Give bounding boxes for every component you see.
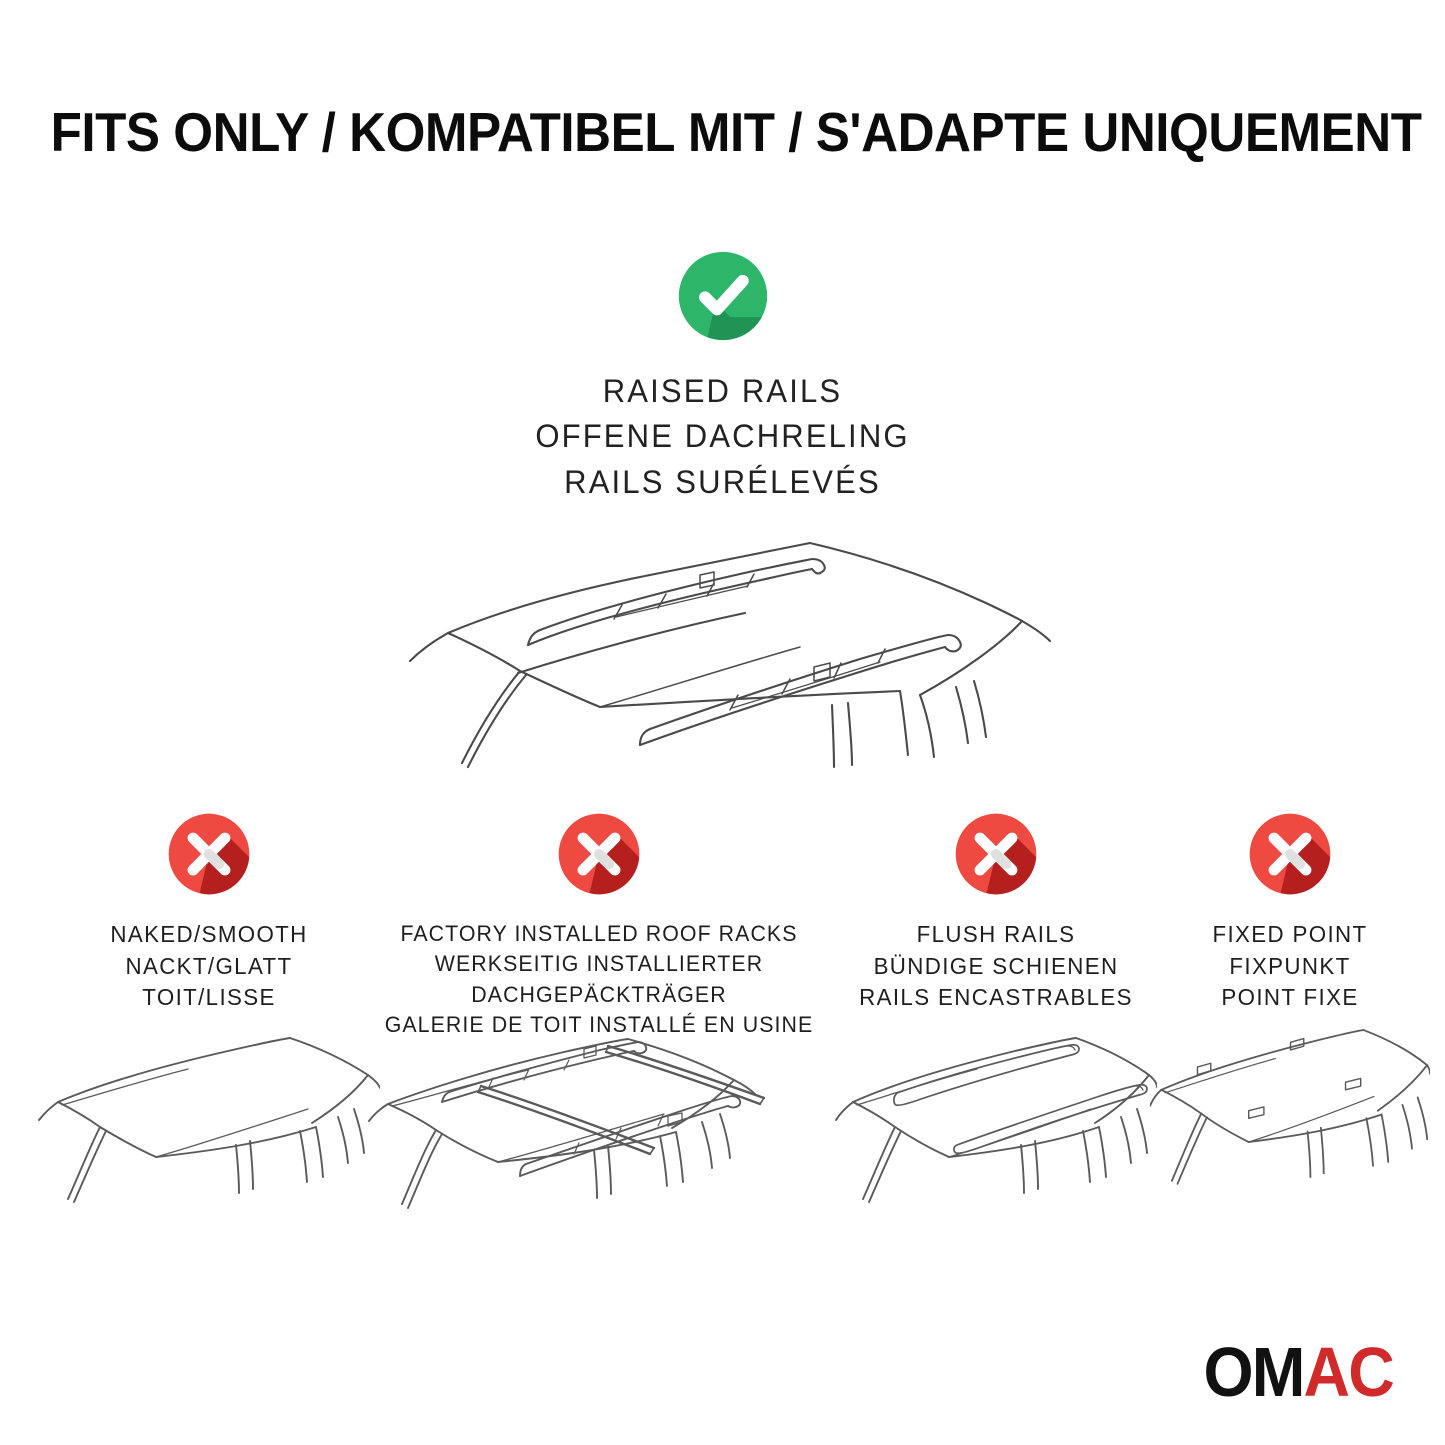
incompatible-item-factory-racks: FACTORY INSTALLED ROOF RACKS WERKSEITIG … — [368, 812, 830, 1040]
x-circle-icon — [1248, 812, 1332, 896]
compatible-labels: RAISED RAILS OFFENE DACHRELING RAILS SUR… — [0, 369, 1445, 505]
check-circle-icon — [677, 250, 769, 342]
x-circle-icon — [557, 812, 641, 896]
compatible-label-de: OFFENE DACHRELING — [22, 414, 1424, 459]
label-en: FLUSH RAILS — [840, 919, 1152, 951]
incompatible-item-fixed-point: FIXED POINT FIXPUNKT POINT FIXE — [1150, 812, 1430, 1014]
x-circle-icon — [954, 812, 1038, 896]
label-de: NACKT/GLATT — [43, 951, 375, 983]
car-roof-fixed-point-illustration — [1150, 1012, 1430, 1230]
car-roof-flush-rails-illustration — [835, 1017, 1157, 1247]
label-de: BÜNDIGE SCHIENEN — [840, 951, 1152, 983]
incompatible-labels: FLUSH RAILS BÜNDIGE SCHIENEN RAILS ENCAS… — [835, 919, 1157, 1014]
compatible-section: RAISED RAILS OFFENE DACHRELING RAILS SUR… — [0, 250, 1445, 505]
label-de-1: WERKSEITIG INSTALLIERTER — [375, 949, 823, 979]
brand-logo: OMAC — [1204, 1337, 1393, 1407]
x-circle-icon — [167, 812, 251, 896]
incompatible-labels: FIXED POINT FIXPUNKT POINT FIXE — [1150, 919, 1430, 1014]
page-title: FITS ONLY / KOMPATIBEL MIT / S'ADAPTE UN… — [51, 100, 1395, 164]
label-en: NAKED/SMOOTH — [43, 919, 375, 951]
label-de: FIXPUNKT — [1154, 951, 1426, 983]
compatibility-infographic: FITS ONLY / KOMPATIBEL MIT / S'ADAPTE UN… — [0, 0, 1445, 1445]
label-fr: POINT FIXE — [1154, 982, 1426, 1014]
compatible-label-en: RAISED RAILS — [22, 369, 1424, 414]
car-roof-factory-racks-illustration — [368, 1004, 830, 1254]
label-fr: RAILS ENCASTRABLES — [840, 982, 1152, 1014]
incompatible-item-flush-rails: FLUSH RAILS BÜNDIGE SCHIENEN RAILS ENCAS… — [835, 812, 1157, 1014]
label-en: FIXED POINT — [1154, 919, 1426, 951]
incompatible-labels: NAKED/SMOOTH NACKT/GLATT TOIT/LISSE — [38, 919, 380, 1014]
brand-logo-ac: AC — [1304, 1333, 1393, 1411]
incompatible-item-naked-smooth: NAKED/SMOOTH NACKT/GLATT TOIT/LISSE — [38, 812, 380, 1014]
car-roof-naked-smooth-illustration — [38, 1017, 380, 1247]
label-fr: TOIT/LISSE — [43, 982, 375, 1014]
label-en: FACTORY INSTALLED ROOF RACKS — [375, 919, 823, 949]
incompatible-section: NAKED/SMOOTH NACKT/GLATT TOIT/LISSE — [0, 812, 1445, 1282]
car-roof-raised-rails-illustration — [400, 495, 1060, 795]
brand-logo-om: OM — [1204, 1333, 1304, 1411]
